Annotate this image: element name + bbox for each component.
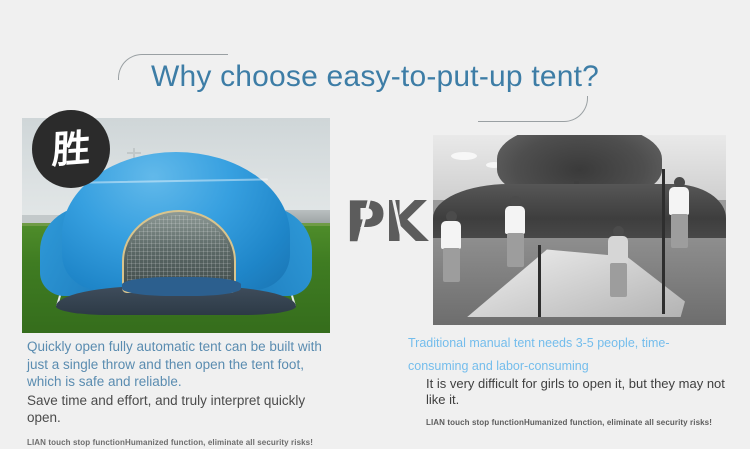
person-legs	[671, 214, 688, 248]
badge-glyph: 胜	[51, 129, 91, 170]
right-caption-highlight: Traditional manual tent needs 3-5 people…	[408, 332, 728, 378]
left-caption-block: Quickly open fully automatic tent can be…	[27, 338, 332, 449]
page-title: Why choose easy-to-put-up tent?	[135, 60, 615, 94]
person-torso	[669, 187, 689, 215]
cloud-decoration	[451, 152, 477, 160]
person-torso	[441, 221, 461, 249]
bracket-bottom-right-decoration	[478, 96, 588, 122]
right-comparison-photo	[433, 135, 726, 325]
person-torso	[608, 236, 628, 264]
left-caption-secondary: Save time and effort, and truly interpre…	[27, 392, 332, 427]
right-caption-footnote: LIAN touch stop functionHumanized functi…	[426, 417, 728, 429]
person-legs	[443, 248, 460, 282]
person-legs	[610, 263, 627, 297]
tent-pole	[538, 245, 541, 317]
right-caption-block: Traditional manual tent needs 3-5 people…	[408, 332, 728, 429]
tent-mat	[122, 277, 242, 296]
person-legs	[507, 233, 524, 267]
tent-seam	[85, 178, 268, 183]
header-section: Why choose easy-to-put-up tent?	[0, 24, 750, 104]
right-caption-secondary: It is very difficult for girls to open i…	[426, 376, 728, 408]
tent-pole	[662, 169, 665, 313]
versus-pk-mark: PK	[337, 192, 433, 254]
promo-banner: Why choose easy-to-put-up tent? 胜	[0, 0, 750, 447]
person-torso	[505, 206, 525, 234]
victory-seal-badge: 胜	[32, 110, 110, 188]
left-caption-highlight: Quickly open fully automatic tent can be…	[27, 338, 332, 391]
